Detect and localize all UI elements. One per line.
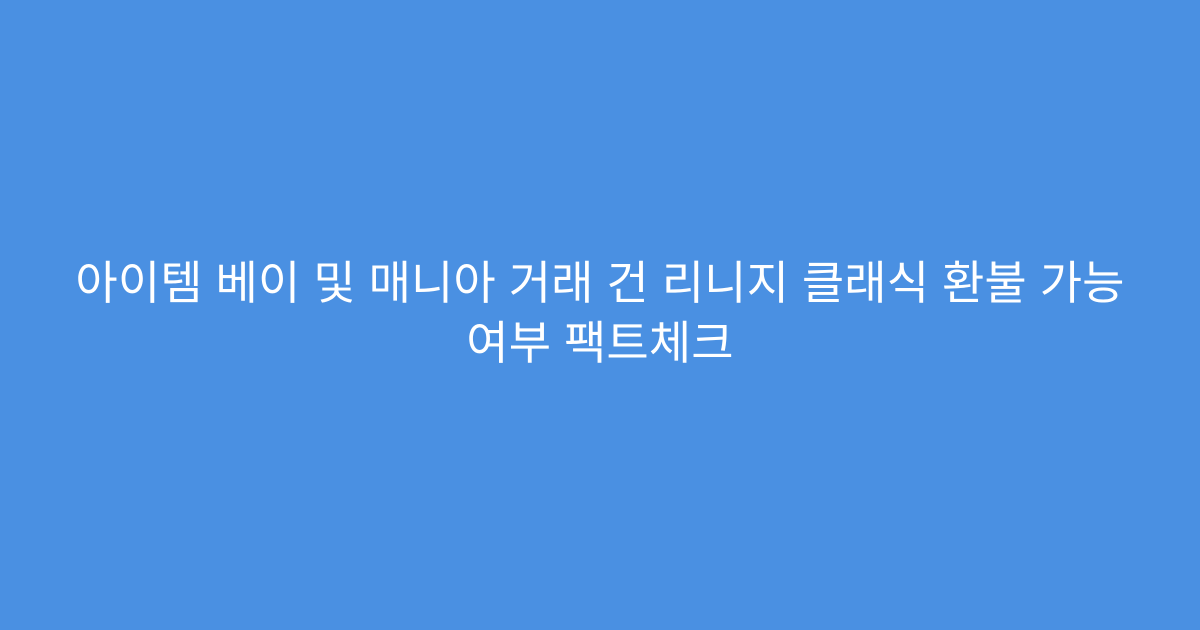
headline-block: 아이템 베이 및 매니아 거래 건 리니지 클래식 환불 가능 여부 팩트체크 — [60, 255, 1140, 375]
card-headline: 아이템 베이 및 매니아 거래 건 리니지 클래식 환불 가능 여부 팩트체크 — [60, 253, 1140, 373]
share-card: 아이템 베이 및 매니아 거래 건 리니지 클래식 환불 가능 여부 팩트체크 — [0, 0, 1200, 630]
